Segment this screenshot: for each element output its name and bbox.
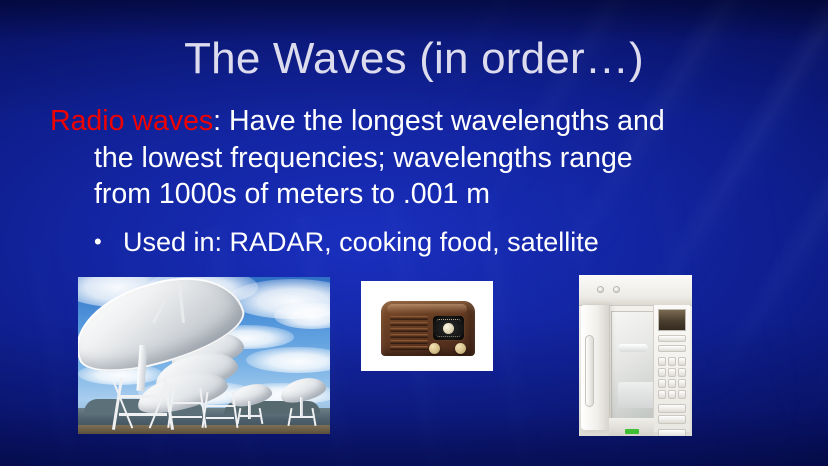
radio-telescope-dishes-photo bbox=[78, 277, 330, 434]
radio-knob-right bbox=[455, 343, 466, 354]
radio-tuning-dial bbox=[432, 315, 465, 341]
cavity-lamp bbox=[618, 344, 648, 352]
lead-line-2: the lowest frequencies; wavelengths rang… bbox=[50, 140, 790, 177]
panel-strip bbox=[658, 345, 686, 352]
bullet-text: Used in: RADAR, cooking food, satellite bbox=[94, 224, 794, 260]
vintage-radio-photo bbox=[361, 281, 493, 371]
dish-tower bbox=[170, 388, 204, 428]
microwave-top-panel bbox=[579, 275, 692, 306]
microwave-screw bbox=[613, 286, 620, 293]
microwave-keypad-row[interactable] bbox=[658, 390, 686, 399]
radio-knob-left bbox=[429, 343, 440, 354]
slide-body: Radio waves: Have the longest wavelength… bbox=[50, 103, 790, 213]
microwave-keypad-row[interactable] bbox=[658, 357, 686, 366]
microwave-start-key[interactable] bbox=[658, 429, 686, 436]
microwave-door-handle bbox=[585, 335, 594, 407]
main-dish-tower bbox=[116, 378, 170, 430]
panel-strip bbox=[658, 335, 686, 342]
dish-tower bbox=[289, 408, 315, 426]
microwave-function-key[interactable] bbox=[658, 415, 686, 424]
microwave-oven-photo bbox=[579, 275, 692, 436]
lead-line-1: Radio waves: Have the longest wavelength… bbox=[50, 103, 790, 140]
green-indicator-light bbox=[625, 429, 639, 434]
presentation-slide: The Waves (in order…) Radio waves: Have … bbox=[0, 0, 828, 466]
lead-line-3: from 1000s of meters to .001 m bbox=[50, 176, 790, 213]
microwave-keypad-row[interactable] bbox=[658, 368, 686, 377]
slide-title: The Waves (in order…) bbox=[0, 33, 828, 85]
cabinet-highlight bbox=[387, 304, 467, 314]
dish-tower bbox=[238, 408, 262, 424]
microwave-screw bbox=[597, 286, 604, 293]
lead-paragraph: Radio waves: Have the longest wavelength… bbox=[50, 103, 790, 213]
radio-cabinet bbox=[381, 301, 475, 356]
dish-tower bbox=[204, 392, 236, 428]
microwave-control-panel bbox=[653, 305, 690, 432]
radio-speaker-grille bbox=[390, 316, 428, 347]
bullet-marker-icon: • bbox=[94, 224, 102, 260]
microwave-function-key[interactable] bbox=[658, 404, 686, 413]
microwave-door bbox=[581, 305, 610, 430]
microwave-display bbox=[658, 309, 686, 331]
microwave-keypad-row[interactable] bbox=[658, 379, 686, 388]
keyword-radio-waves: Radio waves bbox=[50, 105, 213, 137]
lead-line-1-rest: : Have the longest wavelengths and bbox=[213, 105, 665, 137]
bullet-item-used-in: • Used in: RADAR, cooking food, satellit… bbox=[94, 224, 794, 260]
